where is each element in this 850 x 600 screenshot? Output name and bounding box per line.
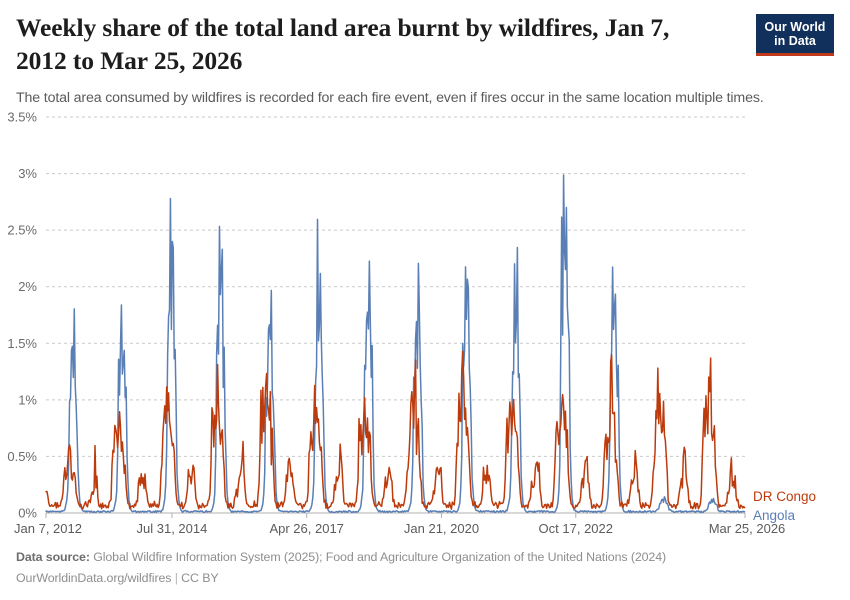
data-source-line: Data source: Global Wildfire Information… [16,548,834,567]
y-axis-tick-label: 1.5% [7,336,37,351]
x-axis: Jan 7, 2012Jul 31, 2014Apr 26, 2017Jan 2… [14,513,785,536]
footer-divider: | [175,571,178,585]
y-axis-tick-label: 3% [18,166,37,181]
chart-plot-area[interactable]: 0%0.5%1%1.5%2%2.5%3%3.5%Jan 7, 2012Jul 3… [0,100,850,540]
x-axis-tick-label: Oct 17, 2022 [539,521,613,536]
legend[interactable]: DR CongoAngola [753,489,816,523]
data-source-text: Global Wildfire Information System (2025… [93,550,666,564]
x-axis-tick-label: Jan 21, 2020 [404,521,479,536]
legend-item-angola[interactable]: Angola [753,508,796,523]
page-title: Weekly share of the total land area burn… [16,12,716,77]
owid-url[interactable]: OurWorldinData.org/wildfires [16,571,171,585]
legend-item-dr-congo[interactable]: DR Congo [753,489,816,504]
data-source-label: Data source: [16,550,90,564]
series-group [46,175,745,512]
chart-footer: Data source: Global Wildfire Information… [16,548,834,588]
footer-links-line: OurWorldinData.org/wildfires | CC BY [16,569,834,588]
x-axis-tick-label: Jul 31, 2014 [137,521,208,536]
license-label[interactable]: CC BY [181,571,218,585]
x-axis-tick-label: Mar 25, 2026 [709,521,786,536]
series-line-dr-congo[interactable] [46,352,745,510]
owid-logo-line2: in Data [758,34,832,48]
x-axis-tick-label: Apr 26, 2017 [269,521,343,536]
chart-header: Weekly share of the total land area burn… [16,0,834,108]
y-axis-tick-label: 2% [18,279,37,294]
y-axis-tick-label: 0% [18,506,37,521]
y-axis-tick-label: 3.5% [7,110,37,125]
wildfire-line-chart[interactable]: 0%0.5%1%1.5%2%2.5%3%3.5%Jan 7, 2012Jul 3… [0,100,850,540]
y-axis-tick-label: 1% [18,392,37,407]
chart-page: Weekly share of the total land area burn… [0,0,850,600]
y-axis-tick-label: 2.5% [7,223,37,238]
y-axis-tick-label: 0.5% [7,449,37,464]
owid-logo[interactable]: Our World in Data [756,14,834,56]
owid-logo-line1: Our World [758,20,832,34]
series-line-angola[interactable] [46,175,745,512]
x-axis-tick-label: Jan 7, 2012 [14,521,82,536]
